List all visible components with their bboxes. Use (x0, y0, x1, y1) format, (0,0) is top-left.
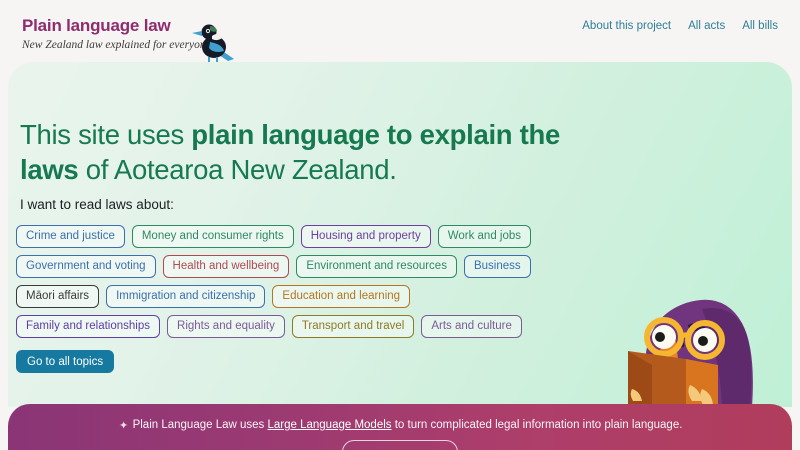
go-to-all-topics-button[interactable]: Go to all topics (16, 350, 114, 373)
nav-link-all-acts[interactable]: All acts (688, 20, 725, 32)
topic-chip[interactable]: Work and jobs (438, 225, 531, 248)
topic-chip[interactable]: Housing and property (301, 225, 431, 248)
page-root: Plain language law New Zealand law expla… (0, 0, 800, 450)
heading-text-tail: of Aotearoa New Zealand. (78, 154, 396, 185)
topic-chip[interactable]: Māori affairs (16, 285, 99, 308)
topic-chip[interactable]: Crime and justice (16, 225, 125, 248)
large-language-models-link[interactable]: Large Language Models (267, 419, 391, 431)
topic-prompt-label: I want to read laws about: (20, 197, 174, 212)
all-topics-row: Go to all topics (16, 350, 636, 373)
nav-link-about-this-project[interactable]: About this project (582, 20, 671, 32)
tui-bird-icon (188, 14, 242, 68)
topic-chip[interactable]: Environment and resources (296, 255, 457, 278)
llm-disclosure-banner: ✦Plain Language Law uses Large Language … (8, 404, 792, 450)
main-nav: About this project All acts All bills (582, 20, 778, 32)
topic-chip-row: Government and votingHealth and wellbein… (16, 255, 636, 278)
brand-tagline: New Zealand law explained for everyone (22, 37, 211, 53)
heading-text-lead: This site uses (20, 119, 191, 150)
site-header: Plain language law New Zealand law expla… (0, 0, 800, 66)
sparkle-icon: ✦ (118, 419, 130, 432)
topic-chip-row: Family and relationshipsRights and equal… (16, 315, 636, 338)
topic-chip[interactable]: Rights and equality (167, 315, 285, 338)
nav-link-all-bills[interactable]: All bills (742, 20, 778, 32)
topic-chip-group: Crime and justiceMoney and consumer righ… (16, 225, 636, 373)
topic-chip[interactable]: Government and voting (16, 255, 156, 278)
llm-text-after: to turn complicated legal information in… (392, 419, 683, 431)
topic-chip-row: Crime and justiceMoney and consumer righ… (16, 225, 636, 248)
llm-disclosure-text: ✦Plain Language Law uses Large Language … (8, 419, 792, 432)
topic-chip[interactable]: Transport and travel (292, 315, 414, 338)
topic-chip[interactable]: Money and consumer rights (132, 225, 294, 248)
topic-chip[interactable]: Immigration and citizenship (106, 285, 265, 308)
topic-chip[interactable]: Family and relationships (16, 315, 160, 338)
topic-chip[interactable]: Health and wellbeing (163, 255, 290, 278)
hero-panel: This site uses plain language to explain… (8, 62, 792, 407)
kiwi-reading-book-icon (602, 285, 774, 407)
llm-banner-action-button[interactable] (342, 440, 458, 450)
page-title: This site uses plain language to explain… (20, 117, 565, 187)
topic-chip[interactable]: Education and learning (272, 285, 410, 308)
brand-title: Plain language law (22, 16, 211, 36)
topic-chip[interactable]: Business (464, 255, 531, 278)
topic-chip[interactable]: Arts and culture (421, 315, 522, 338)
topic-chip-row: Māori affairsImmigration and citizenship… (16, 285, 636, 308)
llm-text-before: Plain Language Law uses (133, 419, 268, 431)
brand[interactable]: Plain language law New Zealand law expla… (22, 16, 211, 53)
